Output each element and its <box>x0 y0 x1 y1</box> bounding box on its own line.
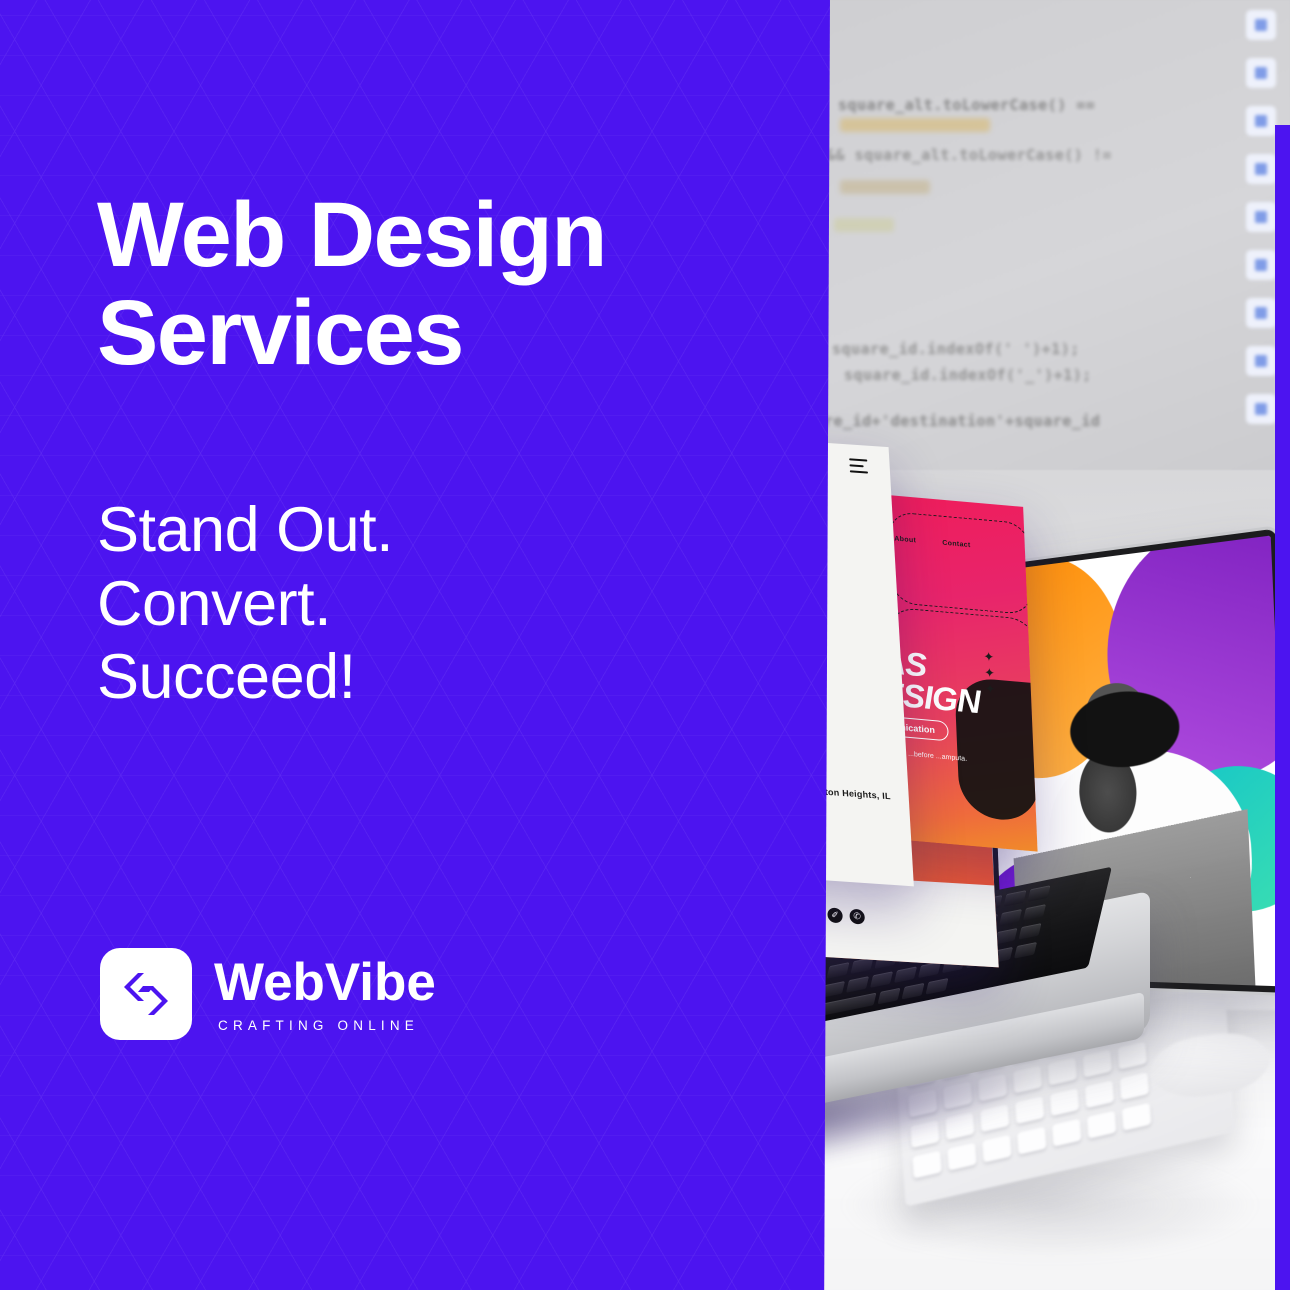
code-line-4: square_id.indexOf('_')+1); <box>844 366 1092 384</box>
code-blur-bar <box>840 118 990 132</box>
code-blur-bar <box>840 180 930 194</box>
page-title: Web Design Services <box>97 186 737 383</box>
chevron-arrow-logo-icon <box>100 948 192 1040</box>
app-icon <box>1246 250 1276 280</box>
app-icon <box>1246 202 1276 232</box>
brand-logo[interactable]: WebVibe CRAFTING ONLINE <box>100 948 436 1040</box>
app-icon <box>1246 154 1276 184</box>
subhead-line-3: Succeed! <box>97 641 517 715</box>
twitter-icon[interactable]: ✐ <box>827 907 843 923</box>
page-subtitle: Stand Out. Convert. Succeed! <box>97 494 517 715</box>
hamburger-menu-icon[interactable] <box>849 458 868 477</box>
purple-right-edge-strip <box>1275 125 1290 1290</box>
pink-card-frame-top <box>887 511 1034 615</box>
whatsapp-icon[interactable]: ✆ <box>849 909 865 925</box>
app-icon <box>1246 106 1276 136</box>
brand-logo-text: WebVibe CRAFTING ONLINE <box>214 948 436 1033</box>
code-line-5: re_id+'destination'+square_id <box>824 412 1100 430</box>
subhead-line-2: Convert. <box>97 568 517 642</box>
app-icon <box>1246 10 1276 40</box>
app-icon <box>1246 298 1276 328</box>
subhead-line-1: Stand Out. <box>97 494 517 568</box>
code-line-3: square_id.indexOf(' ')+1); <box>832 340 1080 358</box>
code-line-2: && square_alt.toLowerCase() != <box>826 146 1112 164</box>
app-icon <box>1246 58 1276 88</box>
app-icon <box>1246 346 1276 376</box>
headline-line-2: Services <box>97 284 737 382</box>
code-monitor: square_alt.toLowerCase() == && square_al… <box>820 0 1290 470</box>
code-line-1: square_alt.toLowerCase() == <box>838 96 1095 114</box>
headline-line-1: Web Design <box>97 186 737 284</box>
app-icon <box>1246 394 1276 424</box>
code-blur-bar <box>834 218 894 232</box>
poster-canvas: square_alt.toLowerCase() == && square_al… <box>0 0 1290 1290</box>
brand-tagline: CRAFTING ONLINE <box>218 1018 436 1033</box>
brand-name: WebVibe <box>214 956 436 1009</box>
